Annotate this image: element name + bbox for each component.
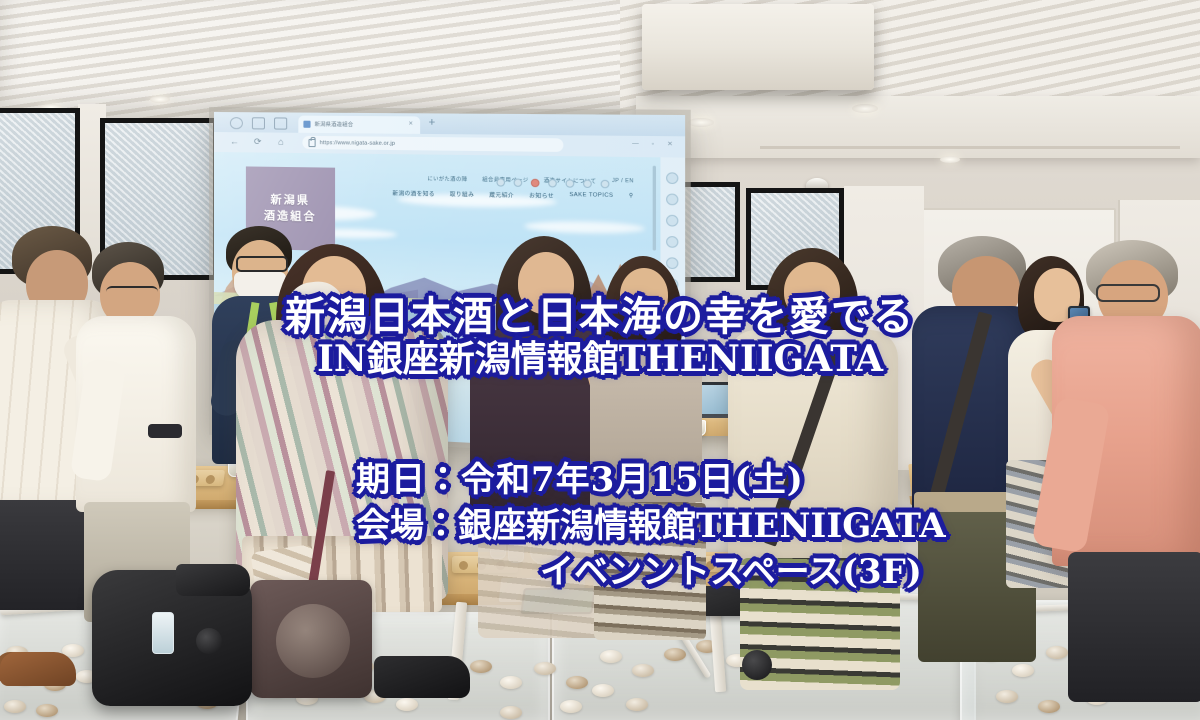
poster-image: 新潟県酒造組合 × + ← ⟳ ⌂ https://www.nigata-sak… bbox=[0, 0, 1200, 720]
shoe bbox=[0, 652, 76, 686]
ceiling-projector bbox=[642, 4, 874, 90]
downlight-icon bbox=[150, 96, 170, 103]
soffit-trim bbox=[760, 146, 1180, 149]
downlight-icon bbox=[852, 104, 878, 113]
downlight-icon bbox=[940, 156, 960, 163]
handbag-pattern bbox=[276, 604, 350, 678]
venue-room: 新潟県酒造組合 × + ← ⟳ ⌂ https://www.nigata-sak… bbox=[0, 0, 1200, 720]
shoe bbox=[374, 656, 470, 698]
skirt bbox=[594, 502, 706, 640]
strap-buckle bbox=[842, 530, 900, 560]
caster-wheel bbox=[742, 650, 772, 680]
shoe bbox=[176, 564, 250, 596]
eyeglasses bbox=[1096, 284, 1160, 302]
downlight-icon bbox=[688, 118, 714, 127]
caster-wheel bbox=[196, 628, 222, 654]
water-bottle bbox=[152, 612, 174, 654]
